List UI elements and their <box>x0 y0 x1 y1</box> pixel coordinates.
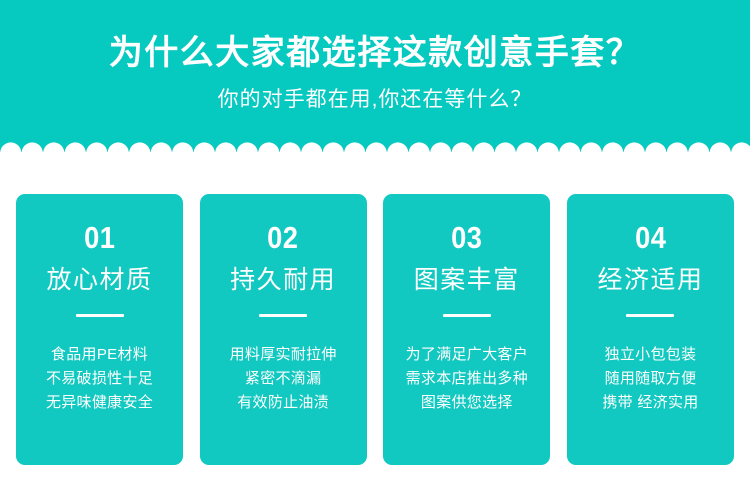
card-divider <box>259 314 307 317</box>
card-description: 为了满足广大客户 需求本店推出多种 图案供您选择 <box>406 343 528 415</box>
card-number: 04 <box>635 222 666 253</box>
scalloped-edge-decoration <box>0 138 750 160</box>
card-description-line: 不易破损性十足 <box>46 367 153 391</box>
card-description-line: 无异味健康安全 <box>46 391 153 415</box>
card-description-line: 图案供您选择 <box>406 391 528 415</box>
feature-card-01[interactable]: 01 放心材质 食品用PE材料 不易破损性十足 无异味健康安全 <box>16 194 183 465</box>
card-description-line: 紧密不滴漏 <box>230 367 337 391</box>
card-description-line: 独立小包包装 <box>602 343 698 367</box>
header-band: 为什么大家都选择这款创意手套？ 你的对手都在用,你还在等什么？ <box>0 0 750 160</box>
card-description-line: 用料厚实耐拉伸 <box>230 343 337 367</box>
card-description-line: 携带 经济实用 <box>602 391 698 415</box>
card-description: 独立小包包装 随用随取方便 携带 经济实用 <box>602 343 698 415</box>
card-title: 经济适用 <box>597 267 703 295</box>
card-number: 03 <box>451 222 482 253</box>
page-subtitle: 你的对手都在用,你还在等什么？ <box>218 87 533 112</box>
feature-card-03[interactable]: 03 图案丰富 为了满足广大客户 需求本店推出多种 图案供您选择 <box>383 194 550 465</box>
card-description-line: 随用随取方便 <box>602 367 698 391</box>
card-description-line: 为了满足广大客户 <box>406 343 528 367</box>
card-title: 图案丰富 <box>414 267 520 295</box>
feature-card-02[interactable]: 02 持久耐用 用料厚实耐拉伸 紧密不滴漏 有效防止油渍 <box>200 194 367 465</box>
card-description-line: 需求本店推出多种 <box>406 367 528 391</box>
card-divider <box>443 314 491 317</box>
header-text-block: 为什么大家都选择这款创意手套？ 你的对手都在用,你还在等什么？ <box>0 0 750 146</box>
card-description: 食品用PE材料 不易破损性十足 无异味健康安全 <box>46 343 153 415</box>
feature-card-04[interactable]: 04 经济适用 独立小包包装 随用随取方便 携带 经济实用 <box>567 194 734 465</box>
card-number: 02 <box>268 222 299 253</box>
card-divider <box>626 314 674 317</box>
card-description-line: 食品用PE材料 <box>46 343 153 367</box>
card-description-line: 有效防止油渍 <box>230 391 337 415</box>
card-title: 放心材质 <box>46 267 152 295</box>
card-description: 用料厚实耐拉伸 紧密不滴漏 有效防止油渍 <box>230 343 337 415</box>
card-title: 持久耐用 <box>230 267 336 295</box>
feature-cards-row: 01 放心材质 食品用PE材料 不易破损性十足 无异味健康安全 02 持久耐用 … <box>16 194 734 465</box>
card-number: 01 <box>84 222 115 253</box>
card-divider <box>76 314 124 317</box>
page-title: 为什么大家都选择这款创意手套？ <box>109 34 642 73</box>
promo-banner: 为什么大家都选择这款创意手套？ 你的对手都在用,你还在等什么？ 01 放心材质 … <box>0 0 750 480</box>
